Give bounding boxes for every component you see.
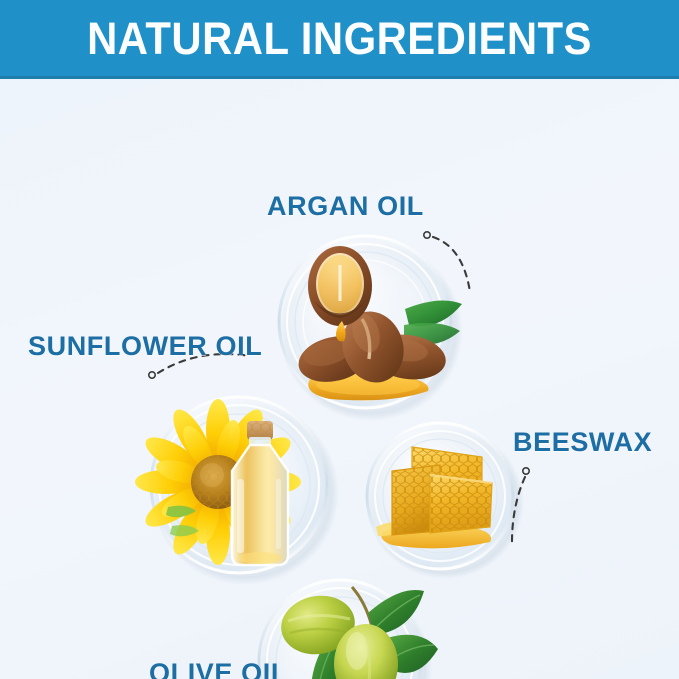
header-banner: NATURAL INGREDIENTS (0, 0, 679, 79)
sunflower-oil-bowl-group (135, 397, 339, 585)
connector-argan (424, 232, 470, 292)
beeswax-bowl-group (366, 423, 524, 579)
page-title: NATURAL INGREDIENTS (24, 14, 655, 64)
ingredients-illustration (0, 79, 679, 679)
natural-ingredients-poster: NATURAL INGREDIENTS (0, 0, 679, 679)
connector-lines (149, 232, 529, 679)
connector-beeswax (512, 468, 529, 542)
ingredient-label-sunflower-oil: SUNFLOWER OIL (28, 331, 262, 362)
oil-bottle (232, 421, 288, 565)
ingredient-label-beeswax: BEESWAX (513, 427, 652, 458)
ingredients-stage: ARGAN OIL SUNFLOWER OIL BEESWAX OLIVE OI… (0, 79, 679, 679)
ingredient-label-olive-oil: OLIVE OIL (149, 658, 288, 679)
green-olives-bowl-icon (277, 587, 438, 679)
honeycomb-bowl-icon (376, 447, 492, 548)
ingredient-label-argan-oil: ARGAN OIL (267, 191, 424, 222)
sunflower-oil-bottle-icon (135, 399, 301, 565)
argan-nuts-bowl-icon (294, 246, 462, 400)
argan-oil-bowl-group (279, 236, 463, 421)
